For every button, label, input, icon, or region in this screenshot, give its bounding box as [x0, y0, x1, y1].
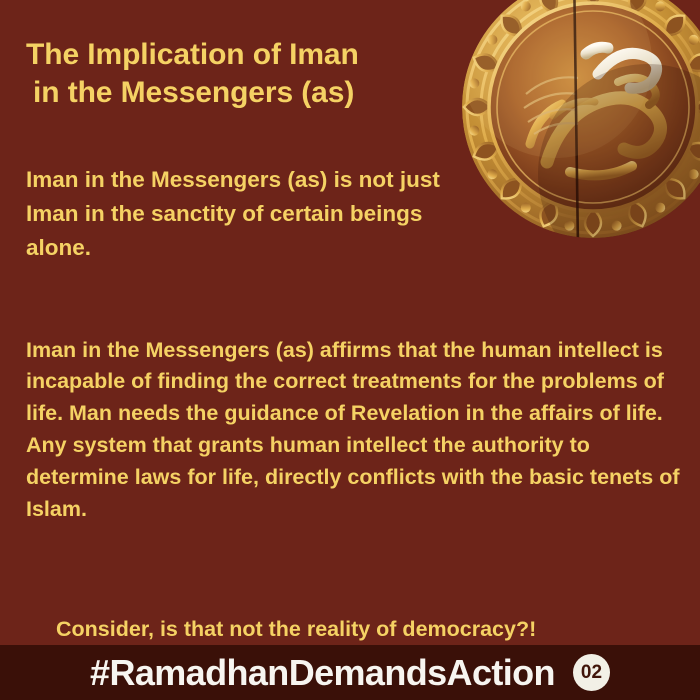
title-line-2: in the Messengers (as)	[26, 74, 456, 112]
closing-question: Consider, is that not the reality of dem…	[56, 614, 700, 644]
lede-paragraph: Iman in the Messengers (as) is not just …	[26, 163, 466, 266]
poster-canvas: The Implication of Iman in the Messenger…	[0, 0, 700, 700]
footer-slide-badge: 02	[573, 654, 610, 691]
title-line-1: The Implication of Iman	[26, 38, 359, 71]
footer-bar: #RamadhanDemandsAction 02	[0, 645, 700, 700]
arabic-calligraphy-medallion-icon	[452, 0, 700, 248]
page-title: The Implication of Iman in the Messenger…	[26, 36, 456, 112]
footer-hashtag: #RamadhanDemandsAction	[90, 655, 555, 691]
body-paragraph: Iman in the Messengers (as) affirms that…	[26, 335, 694, 526]
